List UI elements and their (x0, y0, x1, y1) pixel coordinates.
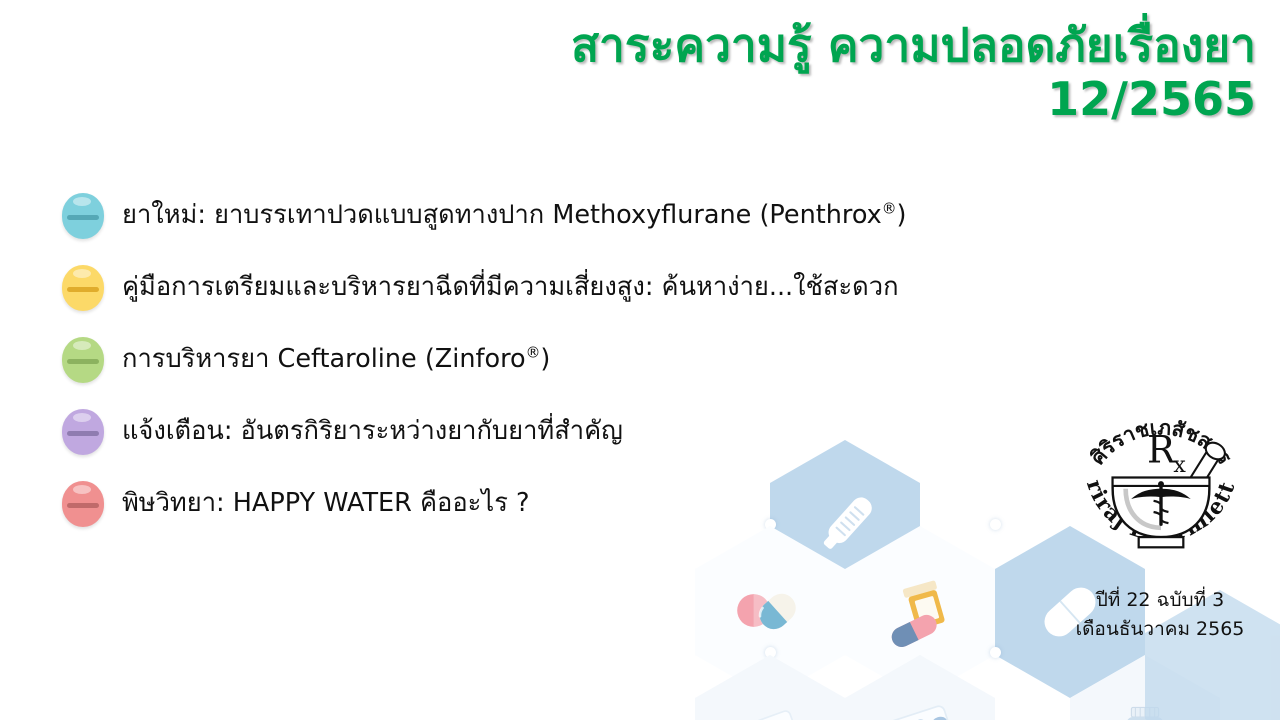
list-item-label: คู่มือการเตรียมและบริหารยาฉีดที่มีความเส… (122, 272, 899, 304)
hexagon-medicine-bottle (1070, 655, 1220, 720)
title-line-1: สาระความรู้ ความปลอดภัยเรื่องยา (456, 18, 1256, 72)
tablet-pill-icon (62, 337, 104, 383)
tablet-pill-icon (62, 265, 104, 311)
pill-score-line (67, 287, 99, 292)
rx-symbol-x: x (1173, 452, 1186, 478)
pill-score-line (67, 431, 99, 436)
list-item-label: ยาใหม่: ยาบรรเทาปวดแบบสูดทางปาก Methoxyf… (122, 200, 906, 232)
list-item-label: พิษวิทยา: HAPPY WATER คืออะไร ? (122, 488, 530, 520)
list-item[interactable]: พิษวิทยา: HAPPY WATER คืออะไร ? (62, 468, 1072, 540)
newsletter-cover: สาระความรู้ ความปลอดภัยเรื่องยา 12/2565 … (0, 0, 1280, 720)
contents-list: ยาใหม่: ยาบรรเทาปวดแบบสูดทางปาก Methoxyf… (62, 180, 1072, 540)
blister-pack-icon (877, 701, 963, 720)
siriraj-pharmletter-logo: ศิริราชเภสัชสาร Siriraj Pharmletter R x (1068, 392, 1254, 578)
list-item[interactable]: การบริหารยา Ceftaroline (Zinforo®) (62, 324, 1072, 396)
list-item-label: การบริหารยา Ceftaroline (Zinforo®) (122, 344, 550, 376)
rx-symbol: R (1147, 428, 1176, 472)
logo-emblem: ศิริราชเภสัชสาร Siriraj Pharmletter R x (1068, 392, 1254, 578)
title-line-2: 12/2565 (456, 72, 1256, 126)
registered-mark: ® (882, 201, 897, 218)
pill-score-line (67, 503, 99, 508)
tablet-pill-icon (62, 193, 104, 239)
pill-score-line (67, 359, 99, 364)
tablet-pill-icon (62, 409, 104, 455)
list-item-label: แจ้งเตือน: อันตรกิริยาระหว่างยากับยาที่ส… (122, 416, 623, 448)
medicine-bottle-icon (1109, 701, 1181, 720)
hexagon-tablet-capsule (695, 526, 845, 698)
list-item[interactable]: แจ้งเตือน: อันตรกิริยาระหว่างยากับยาที่ส… (62, 396, 1072, 468)
hexagon-blister-pack (845, 655, 995, 720)
hexagon-pill-bottle (845, 526, 995, 698)
hexagon-node (990, 647, 1001, 658)
pill-score-line (67, 215, 99, 220)
issue-info: ปีที่ 22 ฉบับที่ 3 เดือนธันวาคม 2565 (1040, 586, 1280, 643)
tablet-pill-icon (62, 481, 104, 527)
blister-pack-icon (728, 703, 812, 720)
pill-bottle-icon (880, 574, 960, 650)
tablet-and-capsule-icon (729, 576, 811, 648)
registered-mark: ® (526, 345, 541, 362)
hexagon-node (765, 647, 776, 658)
issue-line-1: ปีที่ 22 ฉบับที่ 3 (1040, 586, 1280, 615)
issue-line-2: เดือนธันวาคม 2565 (1040, 615, 1280, 644)
list-item[interactable]: คู่มือการเตรียมและบริหารยาฉีดที่มีความเส… (62, 252, 1072, 324)
list-item[interactable]: ยาใหม่: ยาบรรเทาปวดแบบสูดทางปาก Methoxyf… (62, 180, 1072, 252)
page-title: สาระความรู้ ความปลอดภัยเรื่องยา 12/2565 (456, 18, 1256, 127)
hexagon-blister-strip (695, 655, 845, 720)
